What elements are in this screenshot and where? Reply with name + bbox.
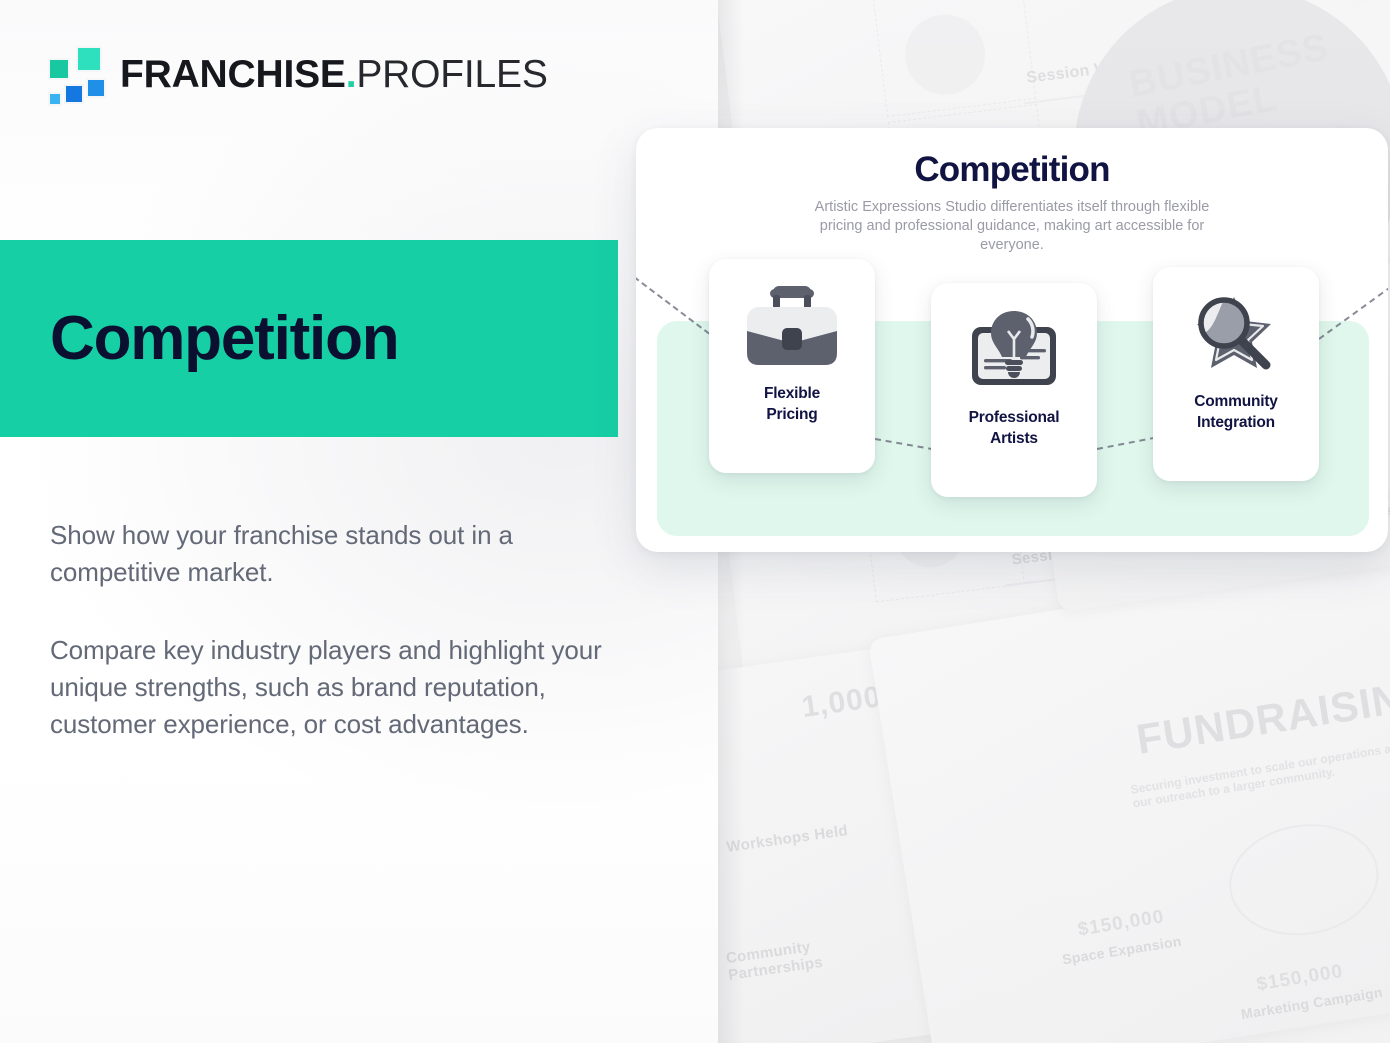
description-block: Show how your franchise stands out in a …: [50, 517, 620, 743]
slide-subtitle: Artistic Expressions Studio differentiat…: [812, 198, 1212, 255]
feature-label-line1: Professional: [969, 409, 1060, 426]
slide-title: Competition: [636, 150, 1388, 190]
magnifier-star-icon: [1180, 287, 1292, 383]
brand-wordmark: FRANCHISE.PROFILES: [120, 44, 548, 106]
brand-name-bold: FRANCHISE: [120, 53, 346, 96]
lightbulb-board-icon: [958, 303, 1070, 399]
slide-preview-page: Drop-In Fees Session Workshops Commissio…: [0, 0, 1390, 1043]
feature-card-label: Community Integration: [1188, 391, 1283, 433]
feature-card-label: Professional Artists: [963, 407, 1066, 449]
feature-card-community-integration[interactable]: Community Integration: [1153, 267, 1319, 481]
brand-name-dot: .: [346, 53, 357, 96]
feature-card-flexible-pricing[interactable]: Flexible Pricing: [709, 259, 875, 473]
brand-name-light: PROFILES: [356, 53, 547, 96]
briefcase-icon: [736, 279, 848, 375]
logo-mark-icon: [46, 44, 108, 102]
feature-label-line1: Community: [1194, 393, 1277, 410]
feature-label-line1: Flexible: [764, 385, 820, 402]
feature-card-label: Flexible Pricing: [758, 383, 826, 425]
slide-card[interactable]: Competition Artistic Expressions Studio …: [636, 128, 1388, 552]
description-paragraph-1: Show how your franchise stands out in a …: [50, 517, 620, 591]
description-paragraph-2: Compare key industry players and highlig…: [50, 632, 620, 743]
feature-label-line2: Artists: [990, 430, 1038, 447]
page-title-band: Competition: [0, 240, 618, 437]
page-title: Competition: [50, 308, 398, 370]
feature-label-line2: Integration: [1197, 414, 1275, 431]
brand-logo[interactable]: FRANCHISE.PROFILES: [46, 44, 546, 106]
background-collage-bottom: 1,000 Monthly Visitors Workshops Held Co…: [718, 520, 1390, 1043]
feature-label-line2: Pricing: [766, 406, 817, 423]
feature-card-professional-artists[interactable]: Professional Artists: [931, 283, 1097, 497]
